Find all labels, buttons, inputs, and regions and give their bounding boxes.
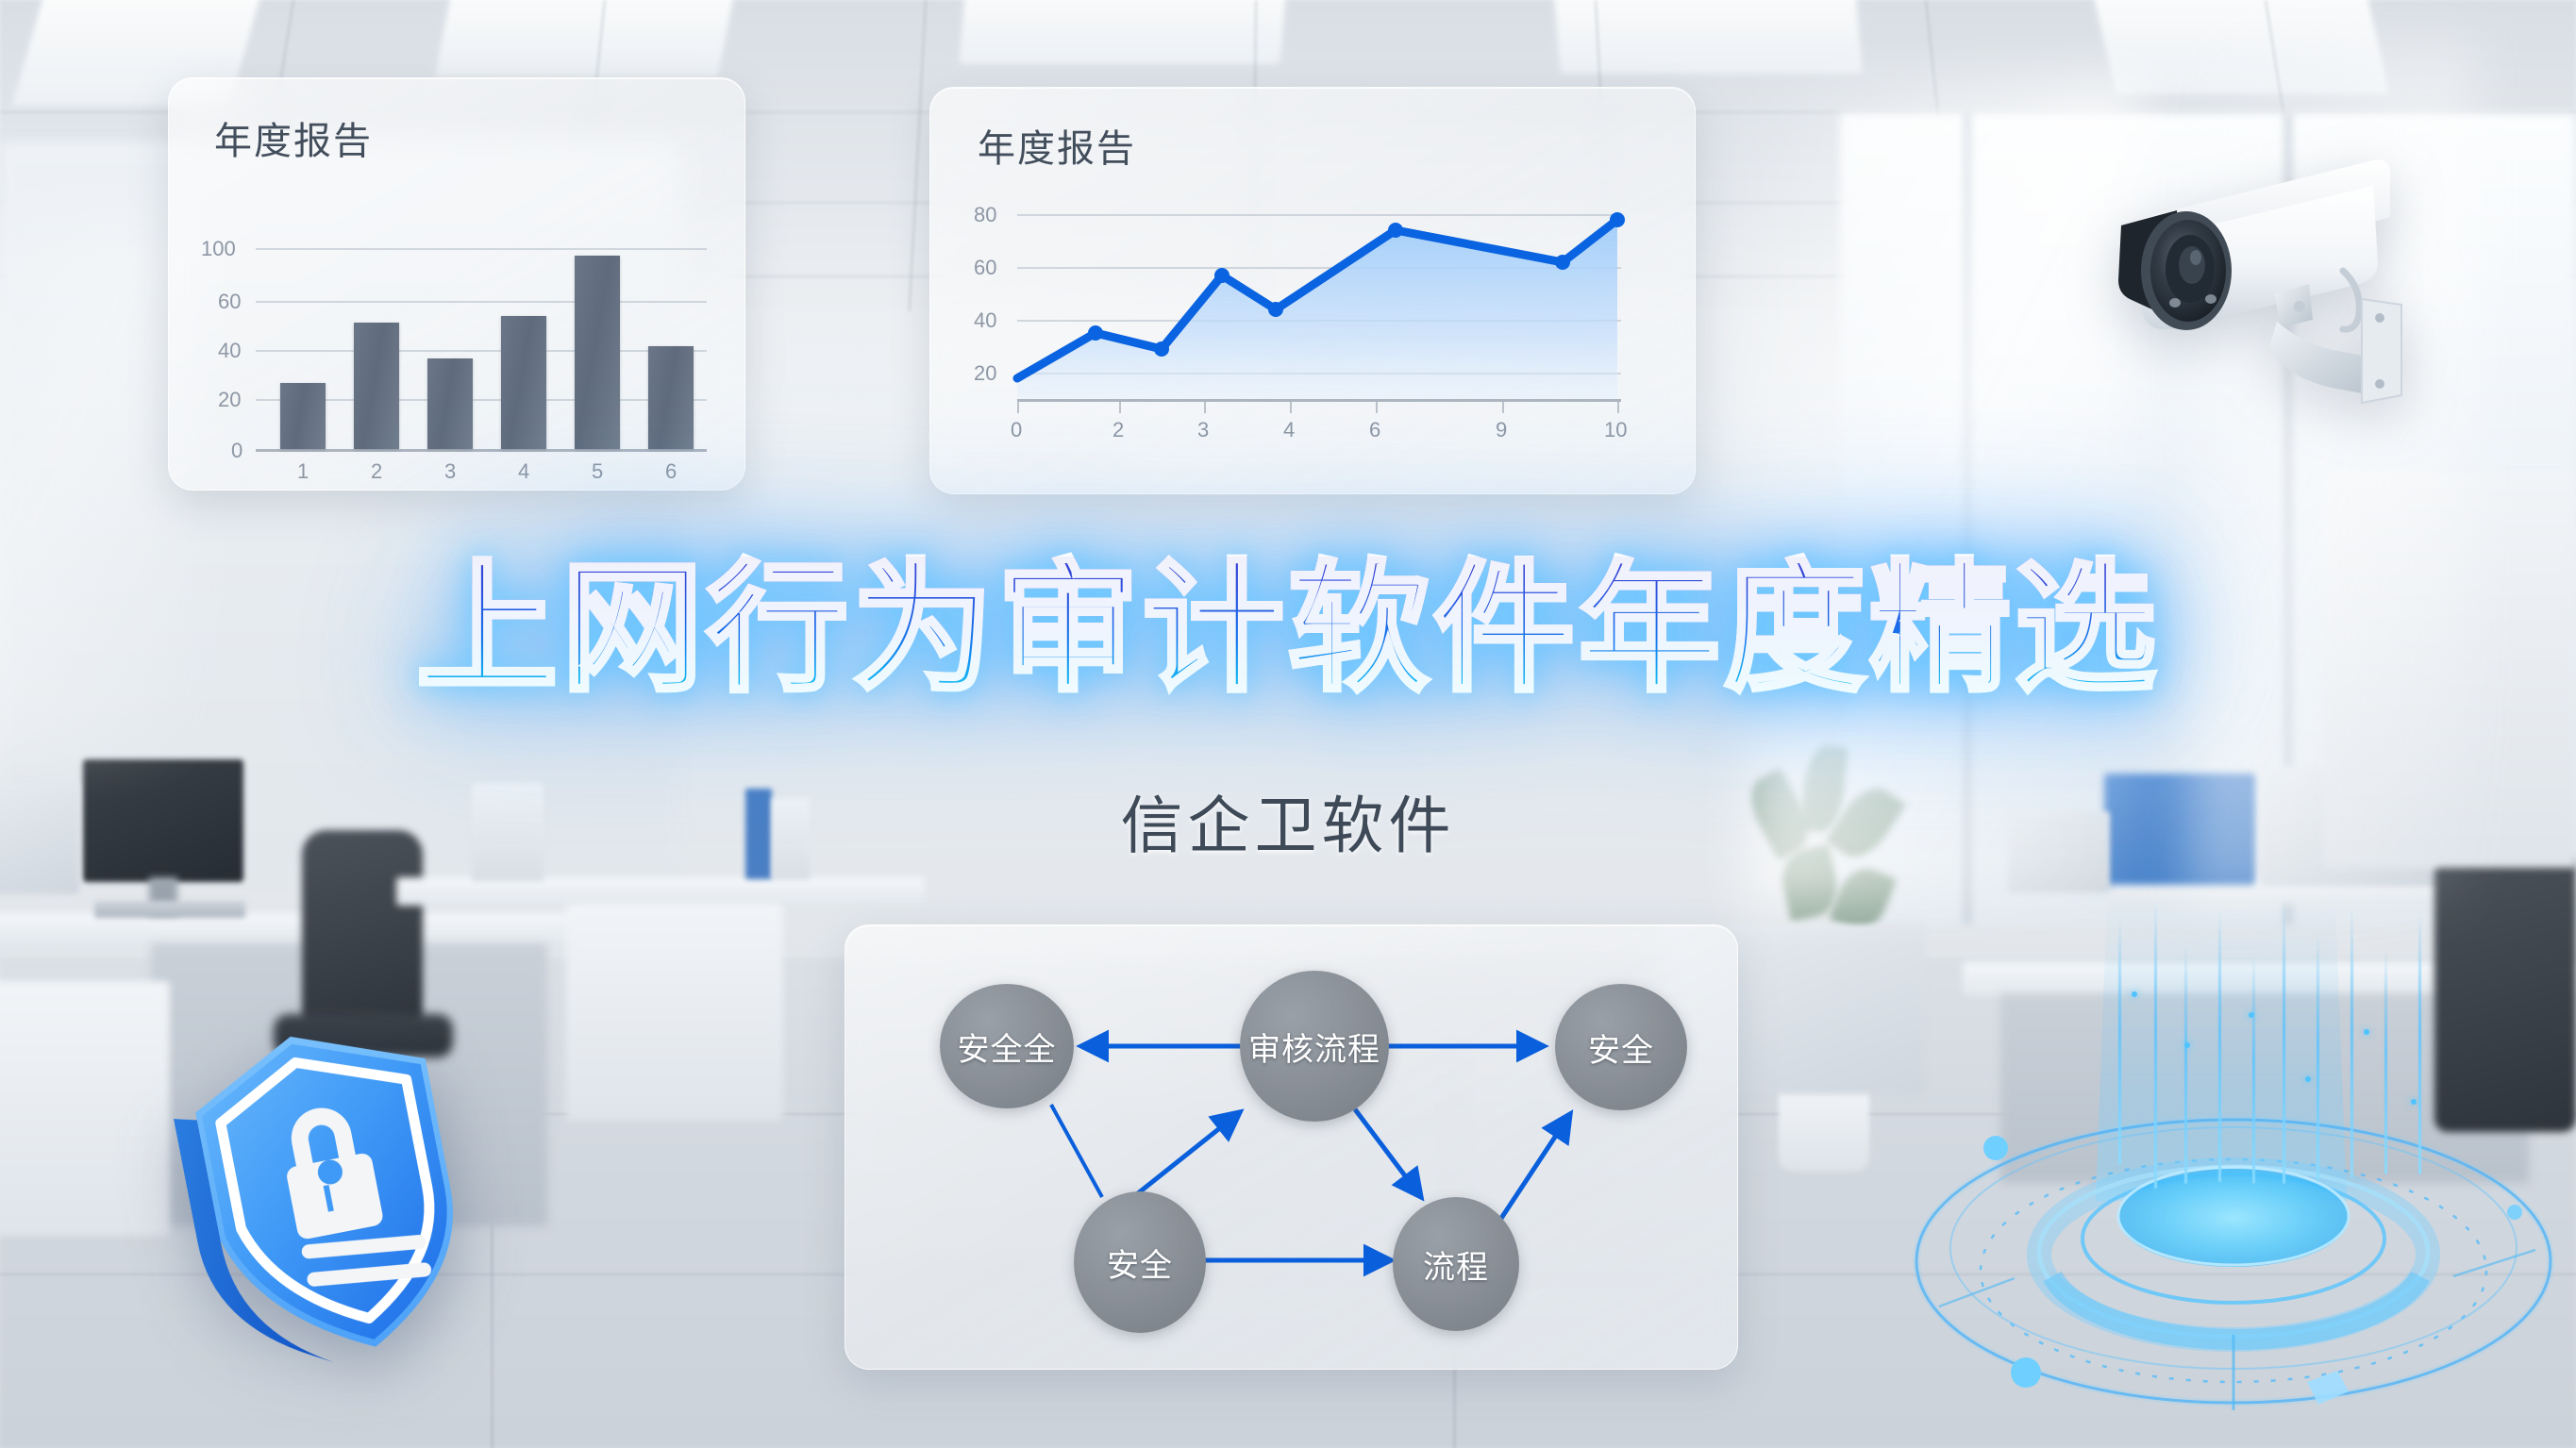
flow-diagram-card[interactable]: 安全全 审核流程 安全 安全 流程 (845, 924, 1738, 1370)
bar-ytick-100: 100 (201, 237, 236, 261)
line-xtick-mark (1376, 402, 1378, 413)
bar-xtick-4: 4 (518, 459, 529, 484)
data-stream (2283, 901, 2285, 1184)
flow-node-label: 安全 (1588, 1024, 1654, 1071)
data-dot (2249, 1012, 2254, 1018)
data-dot (2411, 1099, 2417, 1105)
holographic-projector-icon (1901, 901, 2576, 1448)
flow-node-label: 安全 (1107, 1240, 1173, 1286)
data-dot (2305, 1076, 2311, 1082)
bar-ytick-60: 60 (218, 290, 241, 314)
bar-6 (648, 346, 694, 449)
data-stream (2118, 920, 2121, 1165)
bar-ytick-0: 0 (231, 439, 243, 463)
bar-xtick-5: 5 (592, 459, 603, 484)
bar-4 (501, 316, 546, 449)
data-stream (2418, 914, 2421, 1174)
line-xtick-2: 2 (1112, 418, 1124, 442)
data-stream (2350, 908, 2353, 1178)
bar-chart-card[interactable]: 年度报告 100 60 40 20 0 1 2 3 4 (168, 77, 745, 491)
flow-node-label: 流程 (1423, 1241, 1489, 1288)
bar-ytick-40: 40 (218, 339, 241, 363)
data-stream (2252, 957, 2255, 1184)
line-xtick-9: 9 (1496, 418, 1507, 442)
keyboard (94, 901, 245, 918)
line-xtick-mark (1502, 402, 1504, 413)
bar-xtick-1: 1 (297, 459, 309, 484)
bar-5 (575, 256, 620, 449)
line-xtick-mark (1204, 402, 1206, 413)
data-stream (2184, 946, 2187, 1184)
line-xtick-mark (1290, 402, 1292, 413)
bar-chart-plot: 100 60 40 20 0 1 2 3 4 5 6 (169, 78, 744, 490)
line-xtick-mark (1017, 402, 1019, 413)
bar-xtick-3: 3 (444, 459, 456, 484)
flow-node-security-left[interactable]: 安全全 (940, 984, 1074, 1108)
bar-gridline (256, 248, 707, 250)
cabinet-left (0, 981, 170, 1236)
page-title: 上网行为审计软件年度精选 (0, 557, 2576, 701)
bar-gridline (256, 301, 707, 303)
bar-ytick-20: 20 (218, 388, 241, 412)
line-xtick-6: 6 (1369, 418, 1380, 442)
data-stream (2384, 950, 2387, 1174)
flow-node-audit-process[interactable]: 审核流程 (1240, 971, 1389, 1122)
page-subtitle: 信企卫软件 (0, 775, 2576, 866)
bar-axis-x (256, 449, 707, 452)
data-dot (2364, 1029, 2369, 1035)
bar-xtick-2: 2 (371, 459, 382, 484)
line-xtick-mark (1119, 402, 1121, 413)
flow-node-label: 审核流程 (1248, 1024, 1380, 1070)
line-axis-x (1017, 399, 1621, 402)
line-series-svg (930, 88, 1695, 493)
bar-2 (354, 323, 399, 449)
line-xtick-mark (1617, 402, 1619, 413)
line-xtick-0: 0 (1011, 418, 1022, 442)
bar-1 (280, 383, 326, 449)
line-xtick-3: 3 (1197, 418, 1209, 442)
flow-node-process[interactable]: 流程 (1393, 1197, 1519, 1331)
flow-node-label: 安全全 (958, 1024, 1057, 1070)
desk-left-2 (396, 877, 925, 906)
security-camera-icon (2090, 127, 2439, 434)
data-dot (2184, 1042, 2190, 1048)
data-stream (2317, 935, 2319, 1182)
flow-node-security-bottom[interactable]: 安全 (1074, 1191, 1206, 1333)
cabinet-mid (566, 904, 783, 1121)
line-xtick-4: 4 (1283, 418, 1295, 442)
line-xtick-10: 10 (1604, 418, 1627, 442)
bar-3 (427, 358, 473, 449)
data-stream (2154, 901, 2157, 1189)
data-stream (2218, 910, 2221, 1182)
flow-node-security-right[interactable]: 安全 (1555, 984, 1687, 1110)
data-dot (2132, 991, 2137, 997)
line-chart-card[interactable]: 年度报告 80 60 40 20 (929, 87, 1696, 494)
bar-gridline (256, 350, 707, 352)
poster-stage: 年度报告 100 60 40 20 0 1 2 3 4 (0, 0, 2576, 1448)
line-chart-plot: 80 60 40 20 (930, 88, 1695, 493)
bar-xtick-6: 6 (665, 459, 677, 484)
headline-text: 上网行为审计软件年度精选 (416, 557, 2160, 701)
